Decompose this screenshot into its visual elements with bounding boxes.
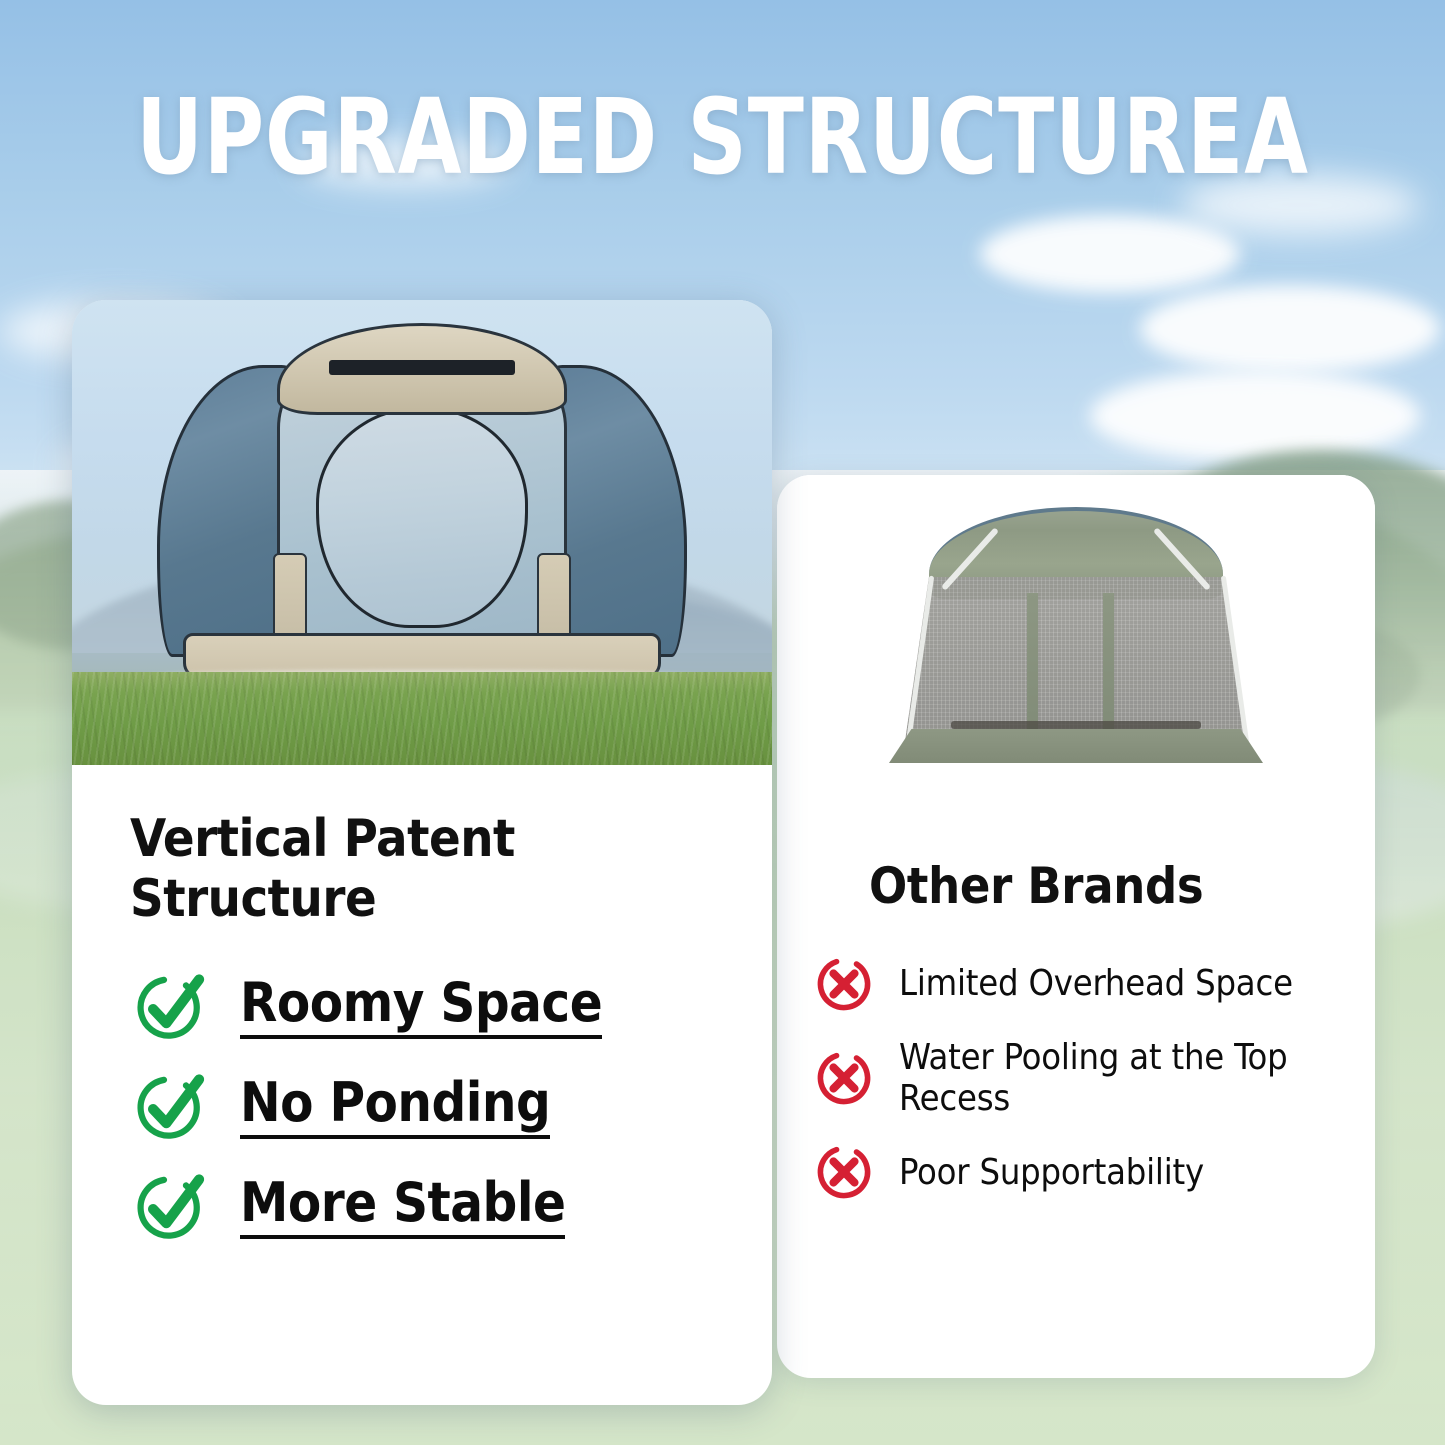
tent-corner-leg xyxy=(537,553,571,645)
cloud-shape xyxy=(980,215,1240,293)
other-brands-feature-list: Limited Overhead Space Water Pooling at … xyxy=(777,953,1375,1203)
list-item-label: Water Pooling at the Top Recess xyxy=(899,1037,1299,1119)
list-item: Water Pooling at the Top Recess xyxy=(777,1037,1375,1119)
cloud-shape xyxy=(1090,370,1420,462)
canopy-mesh-walls xyxy=(905,577,1247,741)
comparison-card-other-brands: Other Brands Limited Overhead Space xyxy=(777,475,1375,1378)
vertical-patent-title: Vertical Patent Structure xyxy=(130,809,772,929)
list-item: More Stable xyxy=(72,1167,772,1245)
list-item: Poor Supportability xyxy=(777,1141,1375,1203)
check-circle-icon xyxy=(132,1167,210,1245)
infographic-root: UPGRADED STRUCTUREA Other Brands xyxy=(0,0,1445,1445)
list-item-label: More Stable xyxy=(240,1173,565,1239)
list-item: Roomy Space xyxy=(72,967,772,1045)
canopy-floor-line xyxy=(951,721,1201,729)
tent-window xyxy=(316,406,528,628)
list-item-label: No Ponding xyxy=(240,1073,550,1139)
cross-circle-icon xyxy=(813,1141,875,1203)
canopy-base-skirt xyxy=(889,729,1263,763)
tent-canopy xyxy=(277,323,567,415)
check-circle-icon xyxy=(132,967,210,1045)
list-item-label: Poor Supportability xyxy=(899,1152,1204,1193)
list-item: Limited Overhead Space xyxy=(777,953,1375,1015)
comparison-card-vertical-patent: Vertical Patent Structure Roomy Space xyxy=(72,300,772,1405)
popup-tent-illustration xyxy=(157,319,687,679)
canopy-tent-illustration xyxy=(871,501,1281,791)
vertical-patent-feature-list: Roomy Space No Ponding M xyxy=(72,967,772,1245)
list-item-label: Roomy Space xyxy=(240,973,602,1039)
tent-corner-leg xyxy=(273,553,307,645)
cross-circle-icon xyxy=(813,953,875,1015)
check-circle-icon xyxy=(132,1067,210,1145)
list-item-label: Limited Overhead Space xyxy=(899,963,1293,1004)
cross-circle-icon xyxy=(813,1047,875,1109)
photo-grass xyxy=(72,672,772,765)
cloud-shape xyxy=(1140,285,1440,373)
vertical-patent-product-photo xyxy=(72,300,772,765)
page-title: UPGRADED STRUCTUREA xyxy=(87,85,1359,189)
other-brands-product-photo xyxy=(777,475,1375,815)
tent-vent xyxy=(329,360,515,375)
other-brands-title: Other Brands xyxy=(869,857,1375,915)
list-item: No Ponding xyxy=(72,1067,772,1145)
